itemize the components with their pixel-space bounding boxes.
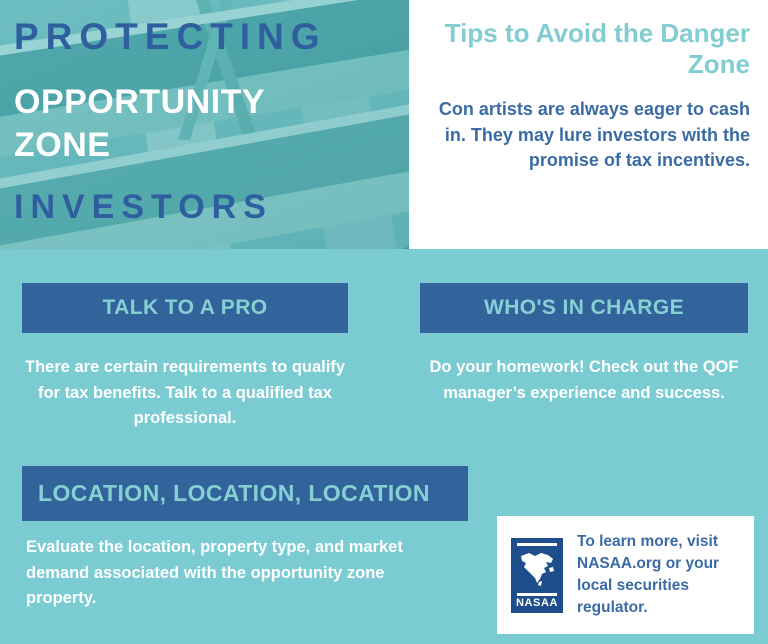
page-title-line-2: OPPORTUNITY — [14, 85, 265, 119]
card-body-whos-in-charge: Do your homework! Check out the QOF mana… — [420, 355, 748, 406]
intro-body: Con artists are always eager to cash in.… — [431, 97, 750, 174]
card-body-talk-to-a-pro: There are certain requirements to qualif… — [22, 355, 348, 432]
intro-panel: Tips to Avoid the Danger Zone Con artist… — [409, 0, 768, 249]
header-title-stack: PROTECTING OPPORTUNITY ZONE INVESTORS — [0, 0, 409, 249]
page-title-line-4: INVESTORS — [14, 190, 273, 224]
infographic-root: PROTECTING OPPORTUNITY ZONE INVESTORS Ti… — [0, 0, 768, 644]
card-talk-to-a-pro: TALK TO A PRO There are certain requirem… — [22, 283, 348, 432]
north-america-map-glyph — [515, 547, 559, 591]
card-body-location: Evaluate the location, property type, an… — [22, 535, 446, 612]
north-america-map-icon — [515, 546, 559, 594]
card-whos-in-charge: WHO'S IN CHARGE Do your homework! Check … — [420, 283, 748, 406]
page-title-line-3: ZONE — [14, 128, 110, 162]
page-title-line-1: PROTECTING — [14, 18, 327, 55]
nasaa-footer-text: To learn more, visit NASAA.org or your l… — [577, 531, 742, 619]
card-bar-label-whos-in-charge: WHO'S IN CHARGE — [484, 296, 684, 320]
card-bar-whos-in-charge: WHO'S IN CHARGE — [420, 283, 748, 333]
nasaa-footer-box: NASAA To learn more, visit NASAA.org or … — [497, 516, 754, 634]
nasaa-logo: NASAA — [511, 538, 563, 613]
header-row: PROTECTING OPPORTUNITY ZONE INVESTORS Ti… — [0, 0, 768, 249]
card-bar-talk-to-a-pro: TALK TO A PRO — [22, 283, 348, 333]
card-bar-label-talk-to-a-pro: TALK TO A PRO — [102, 296, 267, 320]
intro-heading: Tips to Avoid the Danger Zone — [431, 18, 750, 79]
card-location: LOCATION, LOCATION, LOCATION Evaluate th… — [22, 466, 468, 612]
logo-bottom-rule — [517, 593, 557, 596]
card-bar-location: LOCATION, LOCATION, LOCATION — [22, 466, 468, 521]
header-photo-panel: PROTECTING OPPORTUNITY ZONE INVESTORS — [0, 0, 409, 249]
card-bar-label-location: LOCATION, LOCATION, LOCATION — [38, 480, 430, 507]
nasaa-wordmark: NASAA — [511, 597, 563, 612]
